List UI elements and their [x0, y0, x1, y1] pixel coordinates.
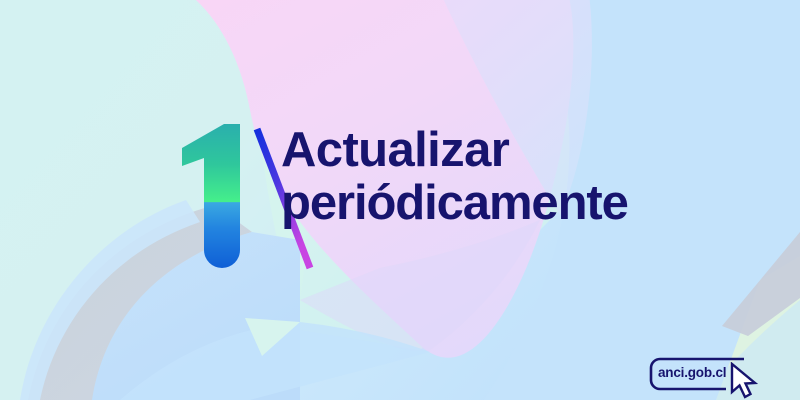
background-artwork — [0, 0, 800, 400]
banner-canvas: Actualizar periódicamente anci.gob.cl — [0, 0, 800, 400]
